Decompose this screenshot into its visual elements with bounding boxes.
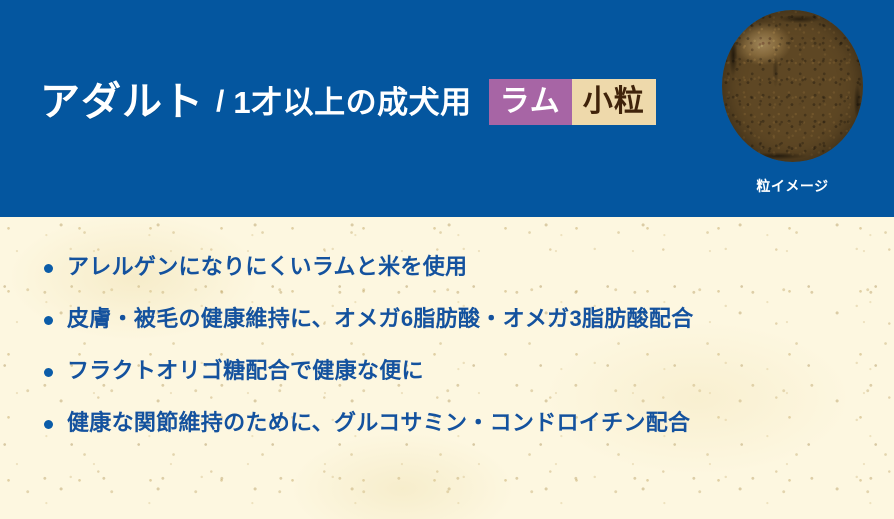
feature-text: 健康な関節維持のために、グルコサミン・コンドロイチン配合 [67,409,690,437]
list-item: フラクトオリゴ糖配合で健康な便に [44,357,864,409]
list-item: アレルゲンになりにくいラムと米を使用 [44,253,864,305]
kibble-photo-icon [722,10,863,162]
feature-text: フラクトオリゴ糖配合で健康な便に [67,357,424,385]
title-subtitle: 1才以上の成犬用 [233,87,471,118]
kibble-caption: 粒イメージ [722,176,863,196]
feature-text: 皮膚・被毛の健康維持に、オメガ6脂肪酸・オメガ3脂肪酸配合 [67,305,694,333]
product-feature-banner: アダルト / 1才以上の成犬用 ラム 小粒 粒イメージ アレルゲンになりにくいラ… [0,0,894,519]
bullet-dot-icon [44,420,53,429]
list-item: 皮膚・被毛の健康維持に、オメガ6脂肪酸・オメガ3脂肪酸配合 [44,305,864,357]
page-title: アダルト [40,82,204,122]
badge-small-kibble: 小粒 [572,79,656,125]
badge-lamb: ラム [489,79,572,125]
feature-text: アレルゲンになりにくいラムと米を使用 [67,253,467,281]
header-bar: アダルト / 1才以上の成犬用 ラム 小粒 粒イメージ [0,0,894,217]
features-panel: アレルゲンになりにくいラムと米を使用 皮膚・被毛の健康維持に、オメガ6脂肪酸・オ… [0,217,894,519]
title-row: アダルト / 1才以上の成犬用 ラム 小粒 [40,74,656,130]
bullet-dot-icon [44,368,53,377]
badge-group: ラム 小粒 [489,79,656,125]
bullet-dot-icon [44,264,53,273]
title-separator: / [216,87,224,117]
feature-list: アレルゲンになりにくいラムと米を使用 皮膚・被毛の健康維持に、オメガ6脂肪酸・オ… [44,253,864,461]
kibble-image-block: 粒イメージ [722,10,863,162]
list-item: 健康な関節維持のために、グルコサミン・コンドロイチン配合 [44,409,864,461]
bullet-dot-icon [44,316,53,325]
